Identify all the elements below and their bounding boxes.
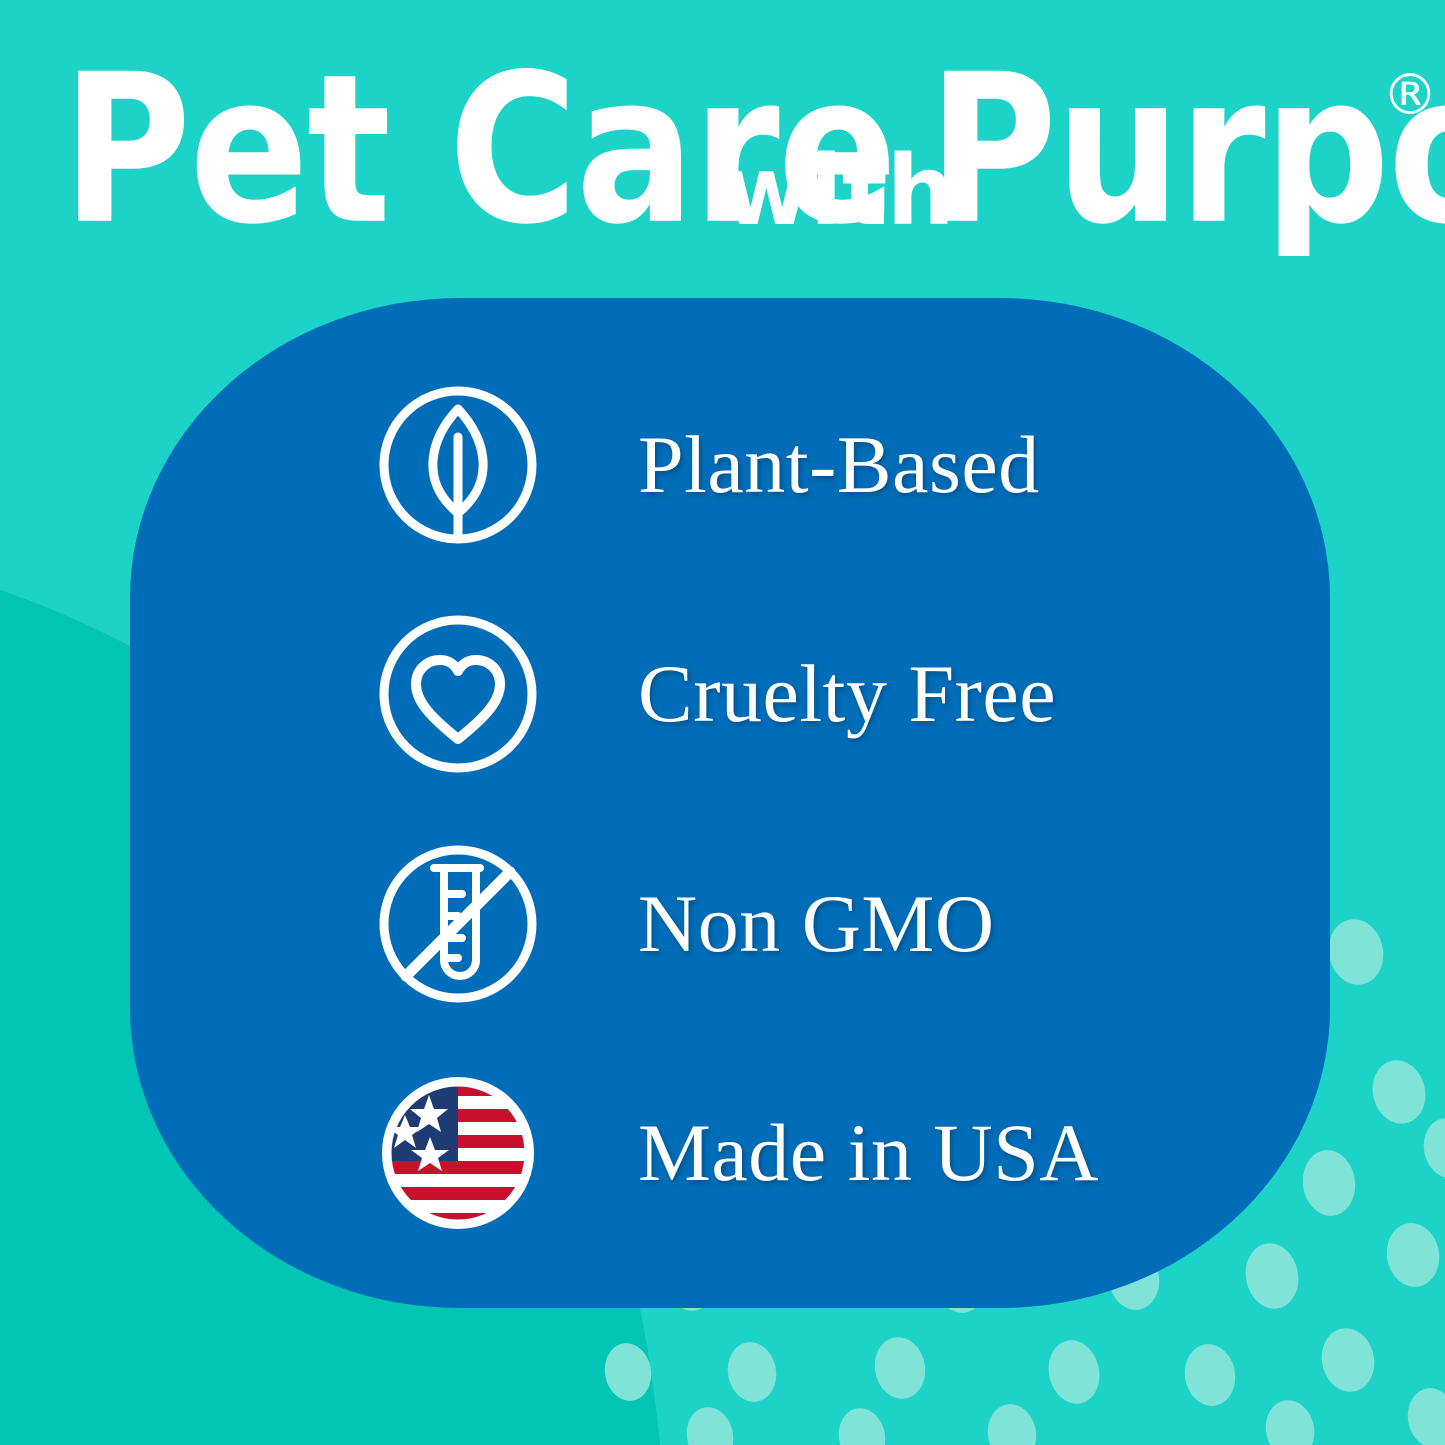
feature-row: Non GMO	[130, 809, 1330, 1039]
feature-row: Made in USA	[130, 1039, 1330, 1269]
feature-row: Cruelty Free	[130, 580, 1330, 810]
feature-list: Plant-Based Cruelty Free	[130, 298, 1330, 1308]
headline-part3: Purpose	[928, 36, 1445, 256]
headline-trademark-icon: ®	[1382, 63, 1438, 128]
usa-flag-circle-icon	[372, 1067, 544, 1239]
headline: Pet Care with Purpose ®	[0, 36, 1445, 256]
feature-label: Made in USA	[638, 1112, 1099, 1194]
heart-in-circle-icon	[372, 608, 544, 780]
headline-part2: with	[722, 135, 954, 247]
feature-row: Plant-Based	[130, 350, 1330, 580]
leaf-in-circle-icon	[372, 379, 544, 551]
feature-label: Cruelty Free	[638, 653, 1056, 735]
feature-label: Non GMO	[638, 883, 995, 965]
no-test-tube-icon	[372, 838, 544, 1010]
feature-label: Plant-Based	[638, 424, 1040, 506]
promo-graphic: Pet Care with Purpose ® Plant-Based Crue…	[0, 0, 1445, 1445]
